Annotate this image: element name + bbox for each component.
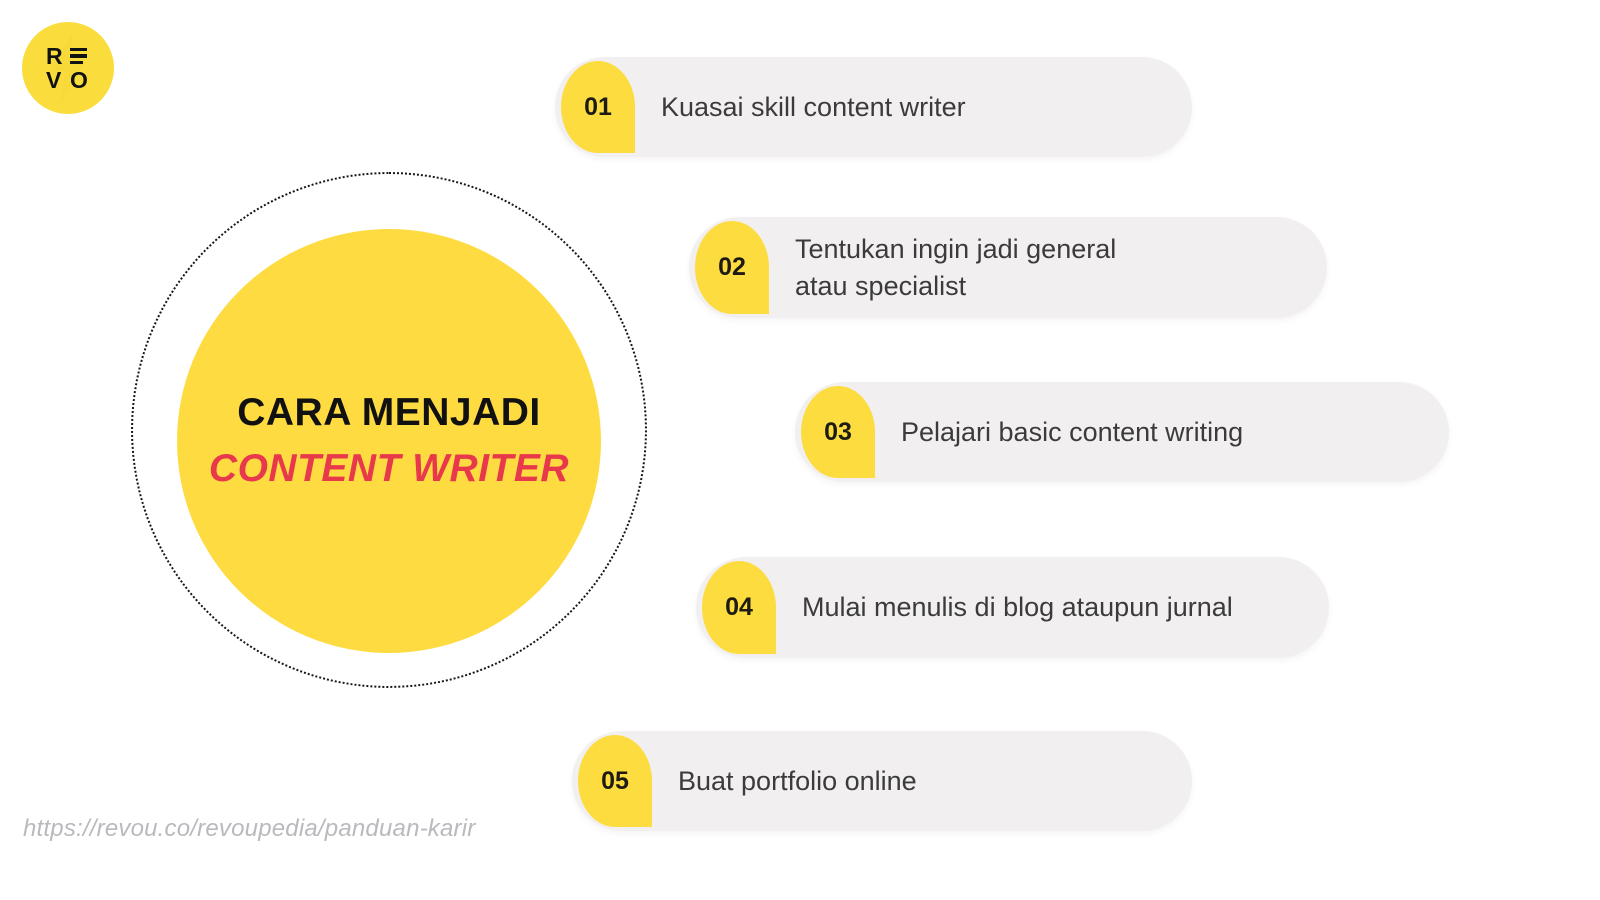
step-number-badge: 04	[702, 561, 776, 654]
infographic-canvas: R V O CARA MENJADI CONTENT WRITER 01 Kua…	[0, 0, 1600, 900]
step-item-03[interactable]: 03 Pelajari basic content writing	[795, 382, 1449, 482]
step-label: Pelajari basic content writing	[875, 414, 1273, 450]
hero-title-line-2: CONTENT WRITER	[209, 447, 569, 491]
hero-circle: CARA MENJADI CONTENT WRITER	[177, 229, 601, 653]
revou-logo[interactable]: R V O	[22, 22, 114, 114]
logo-letter-grid: R V O	[22, 22, 114, 114]
step-number-badge: 03	[801, 386, 875, 478]
logo-letter-o: O	[70, 68, 94, 92]
logo-letter-v: V	[46, 68, 70, 92]
step-label: Tentukan ingin jadi general atau special…	[769, 231, 1146, 303]
step-label: Buat portfolio online	[652, 763, 947, 799]
step-item-01[interactable]: 01 Kuasai skill content writer	[555, 57, 1192, 157]
step-item-04[interactable]: 04 Mulai menulis di blog ataupun jurnal	[696, 557, 1329, 658]
step-number-badge: 01	[561, 61, 635, 153]
step-item-02[interactable]: 02 Tentukan ingin jadi general atau spec…	[689, 217, 1327, 318]
logo-letter-r: R	[46, 44, 70, 68]
equals-bars-icon	[70, 44, 94, 68]
step-item-05[interactable]: 05 Buat portfolio online	[572, 731, 1192, 831]
step-number-badge: 02	[695, 221, 769, 314]
step-number-badge: 05	[578, 735, 652, 827]
hero-title-line-1: CARA MENJADI	[237, 391, 541, 435]
source-url[interactable]: https://revou.co/revoupedia/panduan-kari…	[23, 815, 475, 843]
step-label: Mulai menulis di blog ataupun jurnal	[776, 589, 1263, 625]
step-label: Kuasai skill content writer	[635, 89, 996, 125]
